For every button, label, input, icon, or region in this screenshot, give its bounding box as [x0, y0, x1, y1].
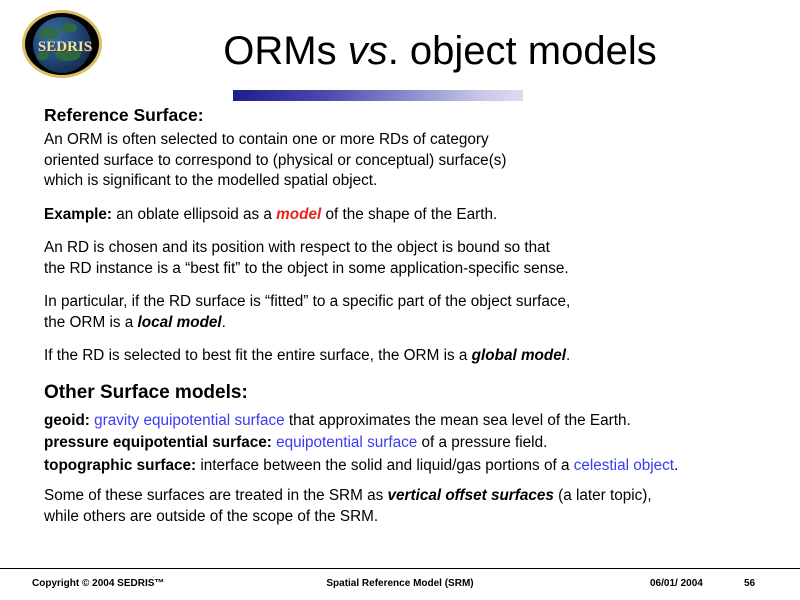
definition-link[interactable]: gravity equipotential surface	[90, 412, 285, 429]
definition-term: geoid:	[44, 412, 90, 429]
paragraph-line-end: .	[566, 347, 570, 364]
sedris-logo: SEDRIS	[22, 10, 102, 78]
example-text-pre: an oblate ellipsoid as a	[112, 206, 276, 223]
term-local-model: local model	[138, 314, 222, 331]
paragraph-example: Example: an oblate ellipsoid as a model …	[44, 205, 784, 226]
paragraph-local-model: In particular, if the RD surface is “fit…	[44, 292, 784, 333]
paragraph-rd-binding: An RD is chosen and its position with re…	[44, 238, 784, 279]
slide: SEDRIS ORMs vs. object models Reference …	[0, 0, 800, 600]
definition-text-end: .	[674, 457, 678, 474]
footer-date: 06/01/ 2004	[650, 578, 703, 589]
paragraph-line-end: .	[222, 314, 226, 331]
example-highlight: model	[276, 206, 321, 223]
closing-text-post: (a later topic),	[554, 487, 652, 504]
paragraph-line: If the RD is selected to best fit the en…	[44, 347, 472, 364]
example-text-post: of the shape of the Earth.	[321, 206, 497, 223]
definition-text: interface between the solid and liquid/g…	[196, 457, 574, 474]
paragraph-line: which is significant to the modelled spa…	[44, 172, 377, 189]
logo-disc: SEDRIS	[22, 10, 102, 78]
definition-list: geoid: gravity equipotential surface tha…	[44, 411, 784, 477]
title-part-1: ORMs	[223, 29, 347, 73]
page-title: ORMs vs. object models	[110, 28, 770, 74]
definition-term: pressure equipotential surface:	[44, 434, 272, 451]
definition-link[interactable]: equipotential surface	[272, 434, 417, 451]
title-emphasis: vs	[348, 29, 388, 73]
heading-other-surface-models: Other Surface models:	[44, 381, 784, 405]
definition-text: that approximates the mean sea level of …	[285, 412, 631, 429]
definition-pressure-equipotential-surface: pressure equipotential surface: equipote…	[44, 433, 784, 454]
definition-term: topographic surface:	[44, 457, 196, 474]
paragraph-orm-definition: An ORM is often selected to contain one …	[44, 130, 784, 192]
footer-divider	[0, 568, 800, 569]
paragraph-line: In particular, if the RD surface is “fit…	[44, 293, 570, 310]
logo-wordmark: SEDRIS	[25, 39, 102, 56]
paragraph-line: oriented surface to correspond to (physi…	[44, 152, 507, 169]
footer-page-number: 56	[744, 578, 755, 589]
paragraph-line: An ORM is often selected to contain one …	[44, 131, 489, 148]
title-part-2: . object models	[388, 29, 657, 73]
title-divider-bar	[233, 90, 523, 101]
paragraph-line: the RD instance is a “best fit” to the o…	[44, 260, 569, 277]
closing-text-pre: Some of these surfaces are treated in th…	[44, 487, 388, 504]
heading-reference-surface: Reference Surface:	[44, 104, 784, 126]
definition-text: of a pressure field.	[417, 434, 547, 451]
example-label: Example:	[44, 206, 112, 223]
closing-line-1: Some of these surfaces are treated in th…	[44, 486, 784, 507]
definition-geoid: geoid: gravity equipotential surface tha…	[44, 411, 784, 432]
slide-footer: Copyright © 2004 SEDRIS™ Spatial Referen…	[0, 576, 800, 600]
term-vertical-offset-surfaces: vertical offset surfaces	[388, 487, 554, 504]
slide-body: Reference Surface: An ORM is often selec…	[44, 104, 784, 527]
closing-paragraph: Some of these surfaces are treated in th…	[44, 486, 784, 527]
closing-line-2: while others are outside of the scope of…	[44, 507, 784, 528]
paragraph-line: the ORM is a	[44, 314, 138, 331]
paragraph-line: An RD is chosen and its position with re…	[44, 239, 550, 256]
definition-link[interactable]: celestial object	[574, 457, 674, 474]
term-global-model: global model	[472, 347, 566, 364]
definition-topographic-surface: topographic surface: interface between t…	[44, 456, 784, 477]
paragraph-global-model: If the RD is selected to best fit the en…	[44, 346, 784, 367]
